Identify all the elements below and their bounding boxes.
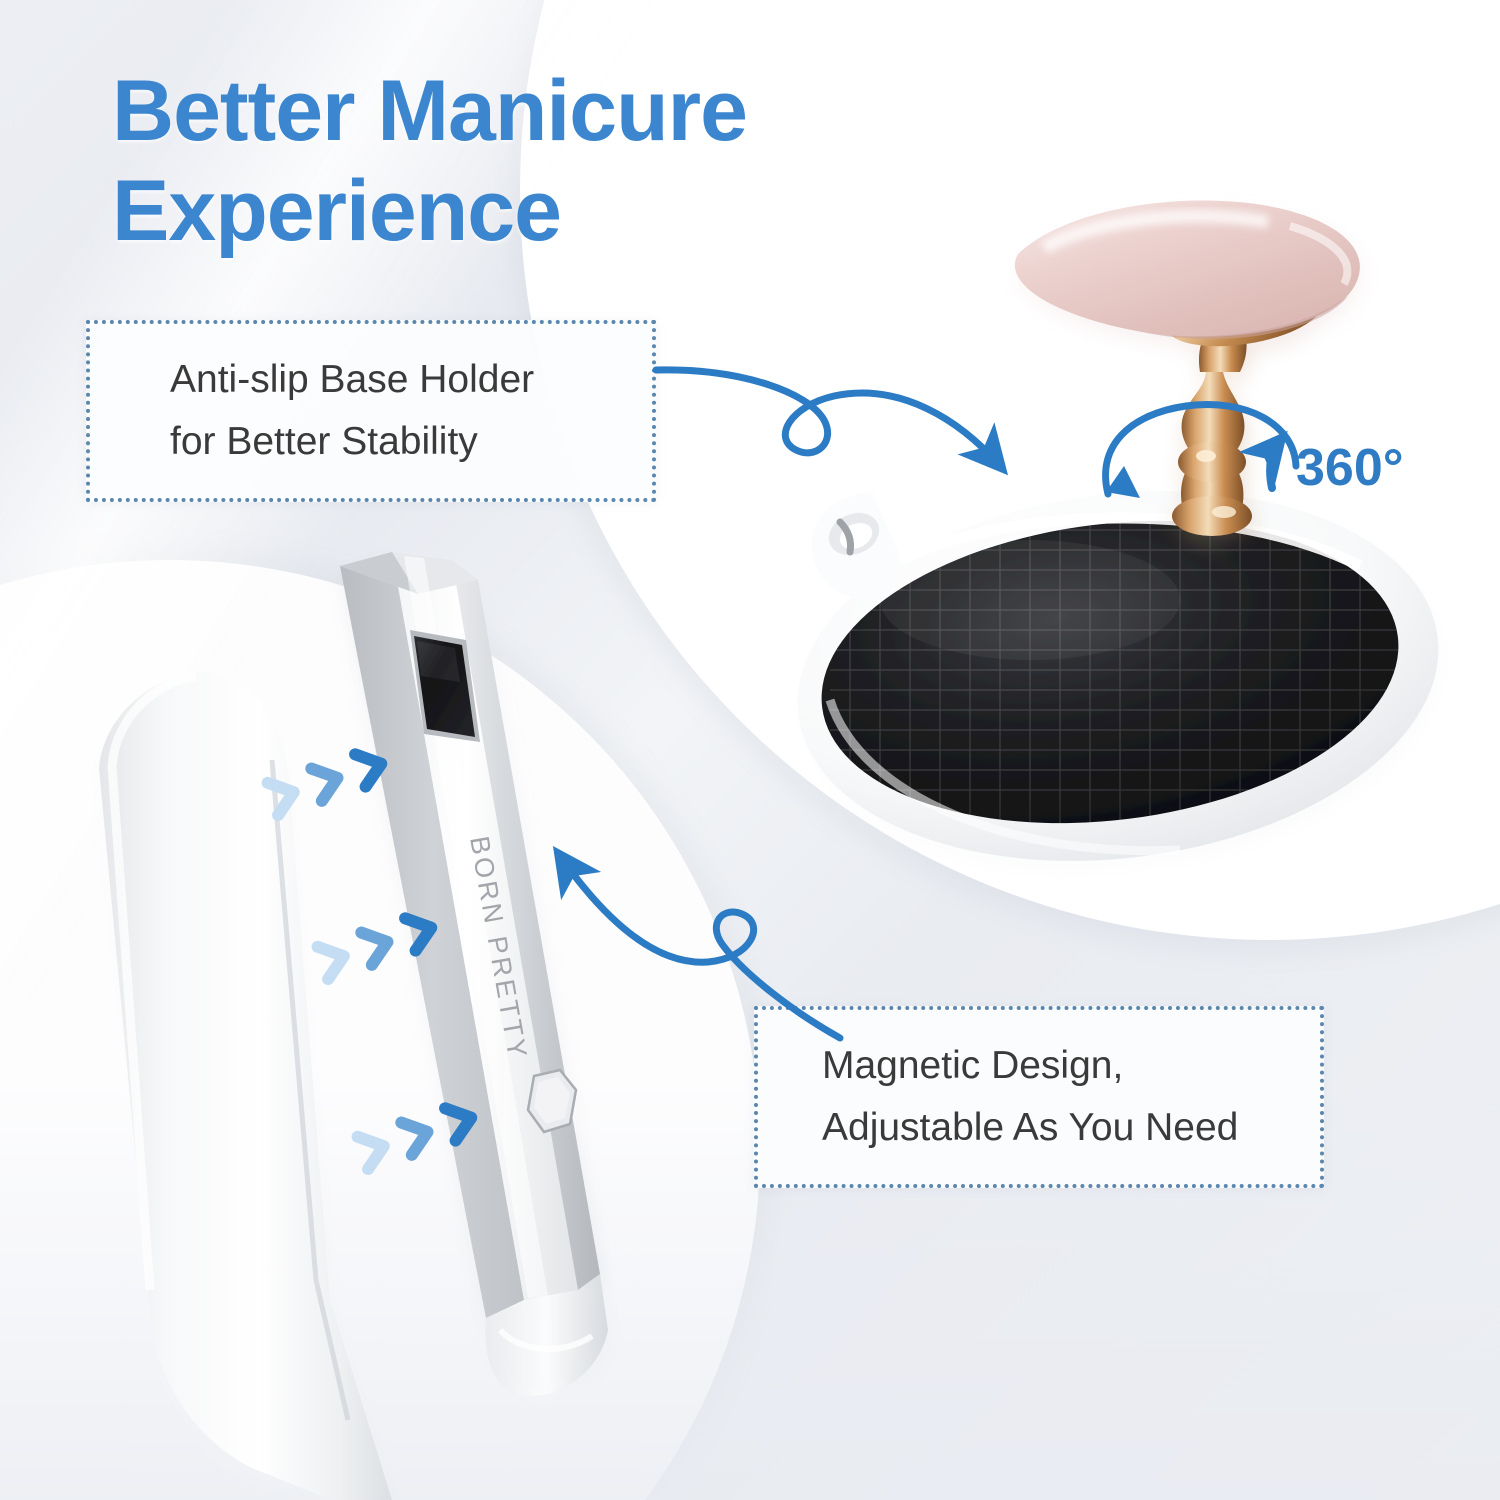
callout-anti-slip-line-2: for Better Stability (170, 411, 652, 473)
callout-anti-slip-base: Anti-slip Base Holder for Better Stabili… (86, 320, 656, 502)
rotation-degree-label: 360° (1296, 438, 1404, 498)
callout-magnetic-line-2: Adjustable As You Need (822, 1097, 1320, 1159)
callout-anti-slip-line-1: Anti-slip Base Holder (170, 349, 652, 411)
headline-line-2: Experience (112, 162, 912, 262)
callout-magnetic-design: Magnetic Design, Adjustable As You Need (754, 1006, 1324, 1188)
callout-magnetic-line-1: Magnetic Design, (822, 1035, 1320, 1097)
headline-line-1: Better Manicure (112, 62, 912, 162)
page-title: Better Manicure Experience (112, 62, 912, 262)
product-infographic: BORN PRETTY (0, 0, 1500, 1500)
